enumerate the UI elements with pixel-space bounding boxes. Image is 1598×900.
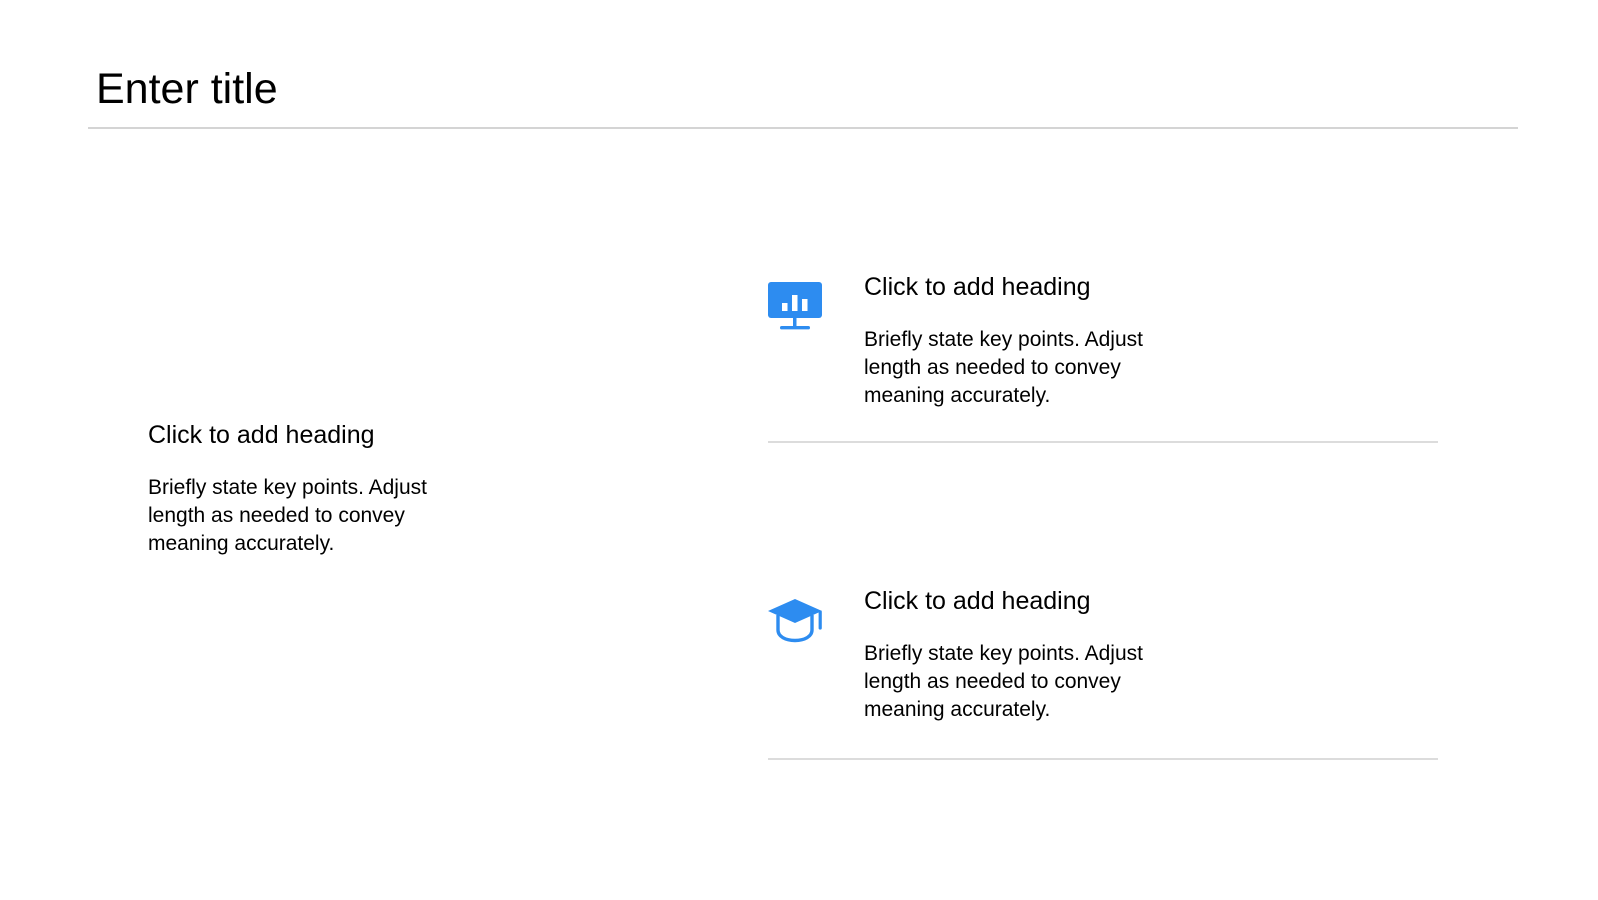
left-block-body[interactable]: Briefly state key points. Adjust length …	[148, 474, 488, 558]
left-block-heading[interactable]: Click to add heading	[148, 420, 488, 451]
feature-heading[interactable]: Click to add heading	[864, 586, 1194, 617]
feature-text-block[interactable]: Click to add heading Briefly state key p…	[864, 272, 1194, 410]
feature-row[interactable]: Click to add heading Briefly state key p…	[766, 586, 1466, 724]
right-feature-column: Click to add heading Briefly state key p…	[766, 272, 1466, 760]
title-divider	[88, 127, 1518, 129]
slide-canvas: Enter title Click to add heading Briefly…	[0, 0, 1598, 900]
graduation-cap-icon	[766, 594, 824, 650]
feature-heading[interactable]: Click to add heading	[864, 272, 1194, 303]
feature-divider	[768, 758, 1438, 760]
feature-text-block[interactable]: Click to add heading Briefly state key p…	[864, 586, 1194, 724]
feature-body[interactable]: Briefly state key points. Adjust length …	[864, 326, 1194, 410]
row-spacer	[766, 443, 1466, 586]
left-text-block[interactable]: Click to add heading Briefly state key p…	[148, 420, 488, 558]
feature-body[interactable]: Briefly state key points. Adjust length …	[864, 640, 1194, 724]
feature-row[interactable]: Click to add heading Briefly state key p…	[766, 272, 1466, 410]
monitor-chart-icon	[766, 280, 824, 336]
page-title[interactable]: Enter title	[96, 62, 278, 116]
